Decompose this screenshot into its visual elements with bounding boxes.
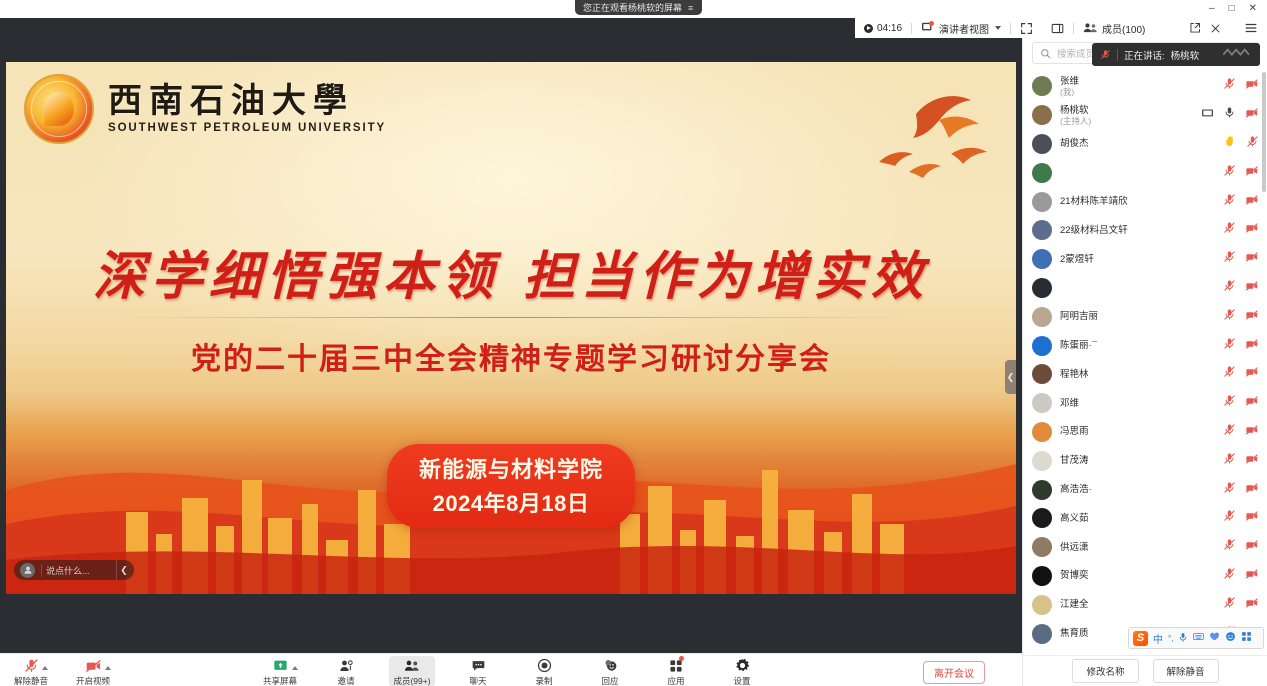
chat-bubble-icon [471,658,486,673]
participant-row[interactable]: 供远潇 [1023,533,1267,562]
leave-meeting-button[interactable]: 离开会议 [923,661,985,684]
slide-subtitle: 党的二十届三中全会精神专题学习研讨分享会 [6,334,1016,378]
participant-name-block: 杨桃软(主持人) [1060,105,1091,126]
participant-name-block: 冯思雨 [1060,426,1089,437]
avatar [1032,220,1052,240]
popout-button[interactable] [1180,18,1210,38]
speaking-prefix: 正在讲话: [1124,48,1165,62]
chat-input-placeholder[interactable]: 说点什么... [41,564,116,577]
apps-badge [679,656,684,661]
avatar [1032,393,1052,413]
participant-name-block: 阿明吉丽 [1060,311,1098,322]
speaker-view-icon [921,21,935,36]
participant-row[interactable]: 冯思雨 [1023,418,1267,447]
participant-row[interactable]: 杨桃软(主持人) [1023,101,1267,130]
camera-muted-icon[interactable] [1245,164,1259,182]
participant-status-icons [1223,423,1259,441]
apps-label: 应用 [667,675,684,686]
microphone-muted-icon[interactable] [1223,77,1236,95]
participant-status-icons [1223,337,1259,355]
share-screen-label: 共享屏幕 [263,675,297,686]
more-menu-button[interactable] [1235,18,1267,38]
mute-toggle-label: 解除静音 [14,675,48,686]
reaction-icon [603,658,618,673]
participants-button[interactable]: 成员(99+) [389,656,435,686]
screen-share-icon [1201,106,1214,124]
microphone-muted-icon[interactable] [1223,250,1236,268]
participant-name: 2蒙煜轩 [1060,254,1094,265]
participant-name-block: 21材料陈羊靖欣 [1060,196,1128,207]
camera-muted-icon[interactable] [1245,394,1259,412]
participant-row[interactable]: 程艳林 [1023,360,1267,389]
participants-count-label: 成员(100) [1102,21,1145,36]
microphone-muted-icon[interactable] [1223,567,1236,585]
participant-status-icons [1223,250,1259,268]
chat-label: 聊天 [469,675,486,686]
slide-main-title: 深学细悟强本领 担当作为增实效 [6,234,1016,309]
video-toggle-button[interactable]: 开启视频 [70,656,116,686]
participants-list[interactable]: 张维(我)杨桃软(主持人)胡俊杰21材料陈羊靖欣22级材料吕文轩2蒙煜轩阿明吉丽… [1023,72,1267,656]
participant-name-block: 邓维 [1060,398,1079,409]
camera-muted-icon[interactable] [1245,481,1259,499]
camera-muted-icon [85,658,102,673]
participant-name-block: 张维(我) [1060,76,1079,97]
apps-button[interactable]: 应用 [653,656,699,686]
microphone-muted-icon[interactable] [1223,279,1236,297]
participant-name-block: 程艳林 [1060,369,1089,380]
fullscreen-button[interactable] [1011,18,1042,38]
participant-name-block: 江建全 [1060,599,1089,610]
punctuation-icon[interactable]: °, [1168,634,1173,643]
speaking-name: 杨桃软 [1171,48,1200,62]
participants-scrollbar[interactable] [1262,72,1266,192]
participant-row[interactable]: 2蒙煜轩 [1023,245,1267,274]
popout-icon [1189,22,1201,34]
participant-row[interactable] [1023,158,1267,187]
av-controls: 解除静音 开启视频 [8,656,116,686]
participant-row[interactable]: 22级材料吕文轩 [1023,216,1267,245]
stage-collapse-handle[interactable]: ❮ [1005,360,1016,394]
mute-toggle-button[interactable]: 解除静音 [8,656,54,686]
camera-muted-icon[interactable] [1245,423,1259,441]
participants-panel-footer: 修改名称 解除静音 [1023,655,1267,686]
participant-status-icons [1223,279,1259,297]
participant-status-icons [1223,481,1259,499]
avatar [1032,566,1052,586]
avatar [1032,76,1052,96]
camera-muted-icon[interactable] [1245,596,1259,614]
meeting-bottom-bar: 解除静音 开启视频 共享屏幕 [0,653,1022,686]
avatar [1032,307,1052,327]
camera-muted-icon[interactable] [1245,452,1259,470]
participant-status-icons [1223,394,1259,412]
invite-person-icon [339,658,354,673]
slide-info-pill: 新能源与材料学院 2024年8月18日 [387,444,635,528]
chevron-up-icon[interactable] [292,666,298,670]
participant-row[interactable]: 甘茂涛 [1023,446,1267,475]
participant-name: 甘茂涛 [1060,455,1089,466]
participant-name: 高义茹 [1060,513,1089,524]
window-controls: ‒ □ ✕ [1209,0,1267,18]
participant-name-block: 供远潇 [1060,542,1089,553]
participant-status-icons [1223,193,1259,211]
share-screen-button[interactable]: 共享屏幕 [257,656,303,686]
share-screen-icon [273,658,288,673]
microphone-muted-icon[interactable] [1223,481,1236,499]
meeting-timer: 04:16 [855,18,911,38]
emoji-icon[interactable] [1225,631,1236,645]
camera-muted-icon[interactable] [1245,567,1259,585]
sogou-logo-icon[interactable]: S [1133,631,1148,646]
participant-status-icons [1223,538,1259,556]
participant-role-tag: (主持人) [1060,116,1091,126]
participant-name: 阿明吉丽 [1060,311,1098,322]
participant-status-icons [1223,567,1259,585]
participant-name-block: 2蒙煜轩 [1060,254,1094,265]
audio-wave-icon [1222,47,1252,62]
participant-status-icons [1223,308,1259,326]
camera-muted-icon[interactable] [1245,337,1259,355]
toolbox-grid-icon[interactable] [1241,631,1252,645]
hamburger-menu-icon [1244,21,1258,35]
microphone-muted-icon[interactable] [1223,221,1236,239]
avatar [1032,163,1052,183]
camera-muted-icon[interactable] [1245,221,1259,239]
keyboard-icon[interactable] [1193,632,1204,644]
more-horizontal-icon[interactable]: ≡ [688,3,694,13]
participant-name: 胡俊杰 [1060,138,1089,149]
slide-date: 2024年8月18日 [387,486,635,518]
participant-status-icons [1223,164,1259,182]
microphone-muted-icon[interactable] [1223,308,1236,326]
user-avatar-icon [20,563,35,578]
avatar [1032,364,1052,384]
minimize-icon[interactable]: ‒ [1209,4,1215,14]
fullscreen-icon [1020,22,1033,35]
participant-name-block: 胡俊杰 [1060,138,1089,149]
settings-label: 设置 [733,675,750,686]
microphone-muted-icon[interactable] [1223,538,1236,556]
participant-row[interactable]: 胡俊杰 [1023,130,1267,159]
participant-status-icons [1223,596,1259,614]
participant-name: 高浩浩· [1060,484,1092,495]
microphone-muted-icon[interactable] [1223,193,1236,211]
microphone-muted-icon[interactable] [1223,365,1236,383]
settings-button[interactable]: 设置 [719,656,765,686]
people-icon [404,658,420,673]
avatar [1032,537,1052,557]
search-placeholder: 搜索成员 [1057,46,1095,60]
title-divider [116,317,906,318]
camera-muted-icon[interactable] [1245,308,1259,326]
rename-button[interactable]: 修改名称 [1072,659,1138,683]
microphone-muted-icon [24,658,39,673]
participant-name: 陈蛋丽·¯ [1060,340,1097,351]
meeting-actions: 共享屏幕 邀请 成员(99+) 聊天 [257,656,765,686]
avatar [1032,595,1052,615]
camera-muted-icon[interactable] [1245,106,1259,124]
microphone-muted-icon [1100,49,1111,60]
timer-play-icon [864,24,873,33]
participant-name: 22级材料吕文轩 [1060,225,1128,236]
view-mode-label: 演讲者视图 [939,21,989,36]
people-icon [1083,22,1098,34]
participant-name-block: 高浩浩· [1060,484,1092,495]
camera-muted-icon[interactable] [1245,538,1259,556]
participants-label: 成员(99+) [393,675,430,686]
participant-role-tag: (我) [1060,87,1079,97]
participant-name-block: 陈蛋丽·¯ [1060,340,1097,351]
maximize-icon[interactable]: □ [1229,4,1235,14]
layout-button[interactable] [1042,18,1073,38]
university-seal-icon [24,74,94,144]
participant-name: 江建全 [1060,599,1089,610]
microphone-muted-icon[interactable] [1246,135,1259,153]
avatar [1032,278,1052,298]
university-logo: 西南石油大學 SOUTHWEST PETROLEUM UNIVERSITY [24,74,386,144]
participant-status-icons [1223,509,1259,527]
participant-row[interactable]: 高义茹 [1023,504,1267,533]
invite-button[interactable]: 邀请 [323,656,369,686]
participant-status-icons [1223,77,1259,95]
participant-name-block: 甘茂涛 [1060,455,1089,466]
invite-label: 邀请 [337,675,354,686]
camera-muted-icon[interactable] [1245,279,1259,297]
participant-name: 张维 [1060,76,1079,87]
participant-status-icons [1223,452,1259,470]
participant-status-icons [1224,135,1259,153]
participant-row[interactable] [1023,274,1267,303]
camera-muted-icon[interactable] [1245,509,1259,527]
close-icon[interactable]: ✕ [1249,4,1257,14]
record-label: 录制 [535,675,552,686]
microphone-muted-icon[interactable] [1223,164,1236,182]
participant-name: 供远潇 [1060,542,1089,553]
avatar [1032,105,1052,125]
record-button[interactable]: 录制 [521,656,567,686]
participant-row[interactable]: 阿明吉丽 [1023,302,1267,331]
camera-muted-icon[interactable] [1245,365,1259,383]
participant-name-block: 贺博奕 [1060,570,1089,581]
avatar [1032,192,1052,212]
chinese-mode-icon[interactable]: 中 [1153,631,1163,646]
microphone-muted-icon[interactable] [1223,337,1236,355]
flying-birds-icon [821,84,996,194]
chevron-up-icon[interactable] [105,666,111,670]
close-icon [1210,23,1221,34]
university-name-en: SOUTHWEST PETROLEUM UNIVERSITY [108,122,386,134]
participant-name-block: 22级材料吕文轩 [1060,225,1128,236]
participant-name: 冯思雨 [1060,426,1089,437]
panel-close-button[interactable] [1210,18,1230,38]
chevron-left-icon[interactable]: ❮ [116,560,132,580]
avatar [1032,422,1052,442]
sogou-ime-toolbar[interactable]: S 中 °, [1128,627,1264,649]
avatar [1032,134,1052,154]
window-titlebar: 您正在观看杨桃软的屏幕 ≡ ‒ □ ✕ [0,0,1267,18]
chevron-down-icon[interactable] [995,26,1001,30]
microphone-muted-icon[interactable] [1223,596,1236,614]
avatar [1032,249,1052,269]
camera-muted-icon[interactable] [1245,193,1259,211]
participants-panel: 搜索成员 正在讲话: 杨桃软 张维(我)杨桃软(主持人)胡俊杰21材料陈羊靖欣2… [1022,38,1267,686]
avatar [1032,624,1052,644]
participants-count-button[interactable]: 成员(100) [1074,18,1154,38]
participant-row[interactable]: 张维(我) [1023,72,1267,101]
microphone-muted-icon[interactable] [1223,509,1236,527]
apps-grid-icon [669,658,683,673]
participant-row[interactable]: 江建全 [1023,590,1267,619]
avatar [1032,480,1052,500]
participant-name: 杨桃软 [1060,105,1091,116]
microphone-icon[interactable] [1223,106,1236,124]
screen-share-banner-text: 您正在观看杨桃软的屏幕 [583,1,682,14]
speaking-now-tooltip: 正在讲话: 杨桃软 [1092,43,1260,66]
shared-screen-stage: 西南石油大學 SOUTHWEST PETROLEUM UNIVERSITY 深学… [0,38,1022,653]
participant-row[interactable]: 陈蛋丽·¯ [1023,331,1267,360]
raise-hand-icon [1224,135,1237,153]
participant-status-icons [1223,365,1259,383]
microphone-muted-icon[interactable] [1223,394,1236,412]
meeting-timer-value: 04:16 [877,23,902,34]
participant-name: 21材料陈羊靖欣 [1060,196,1128,207]
participant-row[interactable]: 高浩浩· [1023,475,1267,504]
meeting-top-bar: 04:16 演讲者视图 成员(100) [855,18,1267,38]
participant-name: 程艳林 [1060,369,1089,380]
participant-status-icons [1223,221,1259,239]
participant-name: 邓维 [1060,398,1079,409]
participant-row[interactable]: 贺博奕 [1023,562,1267,591]
avatar [1032,451,1052,471]
participant-row[interactable]: 邓维 [1023,389,1267,418]
camera-muted-icon[interactable] [1245,77,1259,95]
video-toggle-label: 开启视频 [76,675,110,686]
participant-name: 焦育质 [1060,628,1089,639]
participant-name-block: 高义茹 [1060,513,1089,524]
gear-icon [735,658,750,673]
voice-input-icon[interactable] [1178,632,1188,645]
record-icon [537,658,552,673]
view-mode-selector[interactable]: 演讲者视图 [912,18,1010,38]
participant-name: 贺博奕 [1060,570,1089,581]
slide-chat-overlay[interactable]: 说点什么... ❮ [14,560,134,580]
skin-palette-icon[interactable] [1209,631,1220,645]
reaction-label: 回应 [601,675,618,686]
participant-row[interactable]: 21材料陈羊靖欣 [1023,187,1267,216]
unmute-all-button[interactable]: 解除静音 [1153,659,1219,683]
university-name-cn: 西南石油大學 [108,84,386,120]
participant-status-icons [1201,106,1259,124]
chevron-up-icon[interactable] [42,666,48,670]
camera-muted-icon[interactable] [1245,250,1259,268]
presentation-slide: 西南石油大學 SOUTHWEST PETROLEUM UNIVERSITY 深学… [6,62,1016,594]
split-view-icon [1051,22,1064,35]
avatar [1032,508,1052,528]
avatar [1032,336,1052,356]
chat-button[interactable]: 聊天 [455,656,501,686]
reaction-button[interactable]: 回应 [587,656,633,686]
microphone-muted-icon[interactable] [1223,423,1236,441]
microphone-muted-icon[interactable] [1223,452,1236,470]
meeting-window: 您正在观看杨桃软的屏幕 ≡ ‒ □ ✕ 04:16 [0,0,1267,686]
search-icon [1040,48,1051,59]
slide-department: 新能源与材料学院 [387,452,635,484]
screen-share-banner[interactable]: 您正在观看杨桃软的屏幕 ≡ [575,0,702,15]
participant-name-block: 焦育质 [1060,628,1089,639]
